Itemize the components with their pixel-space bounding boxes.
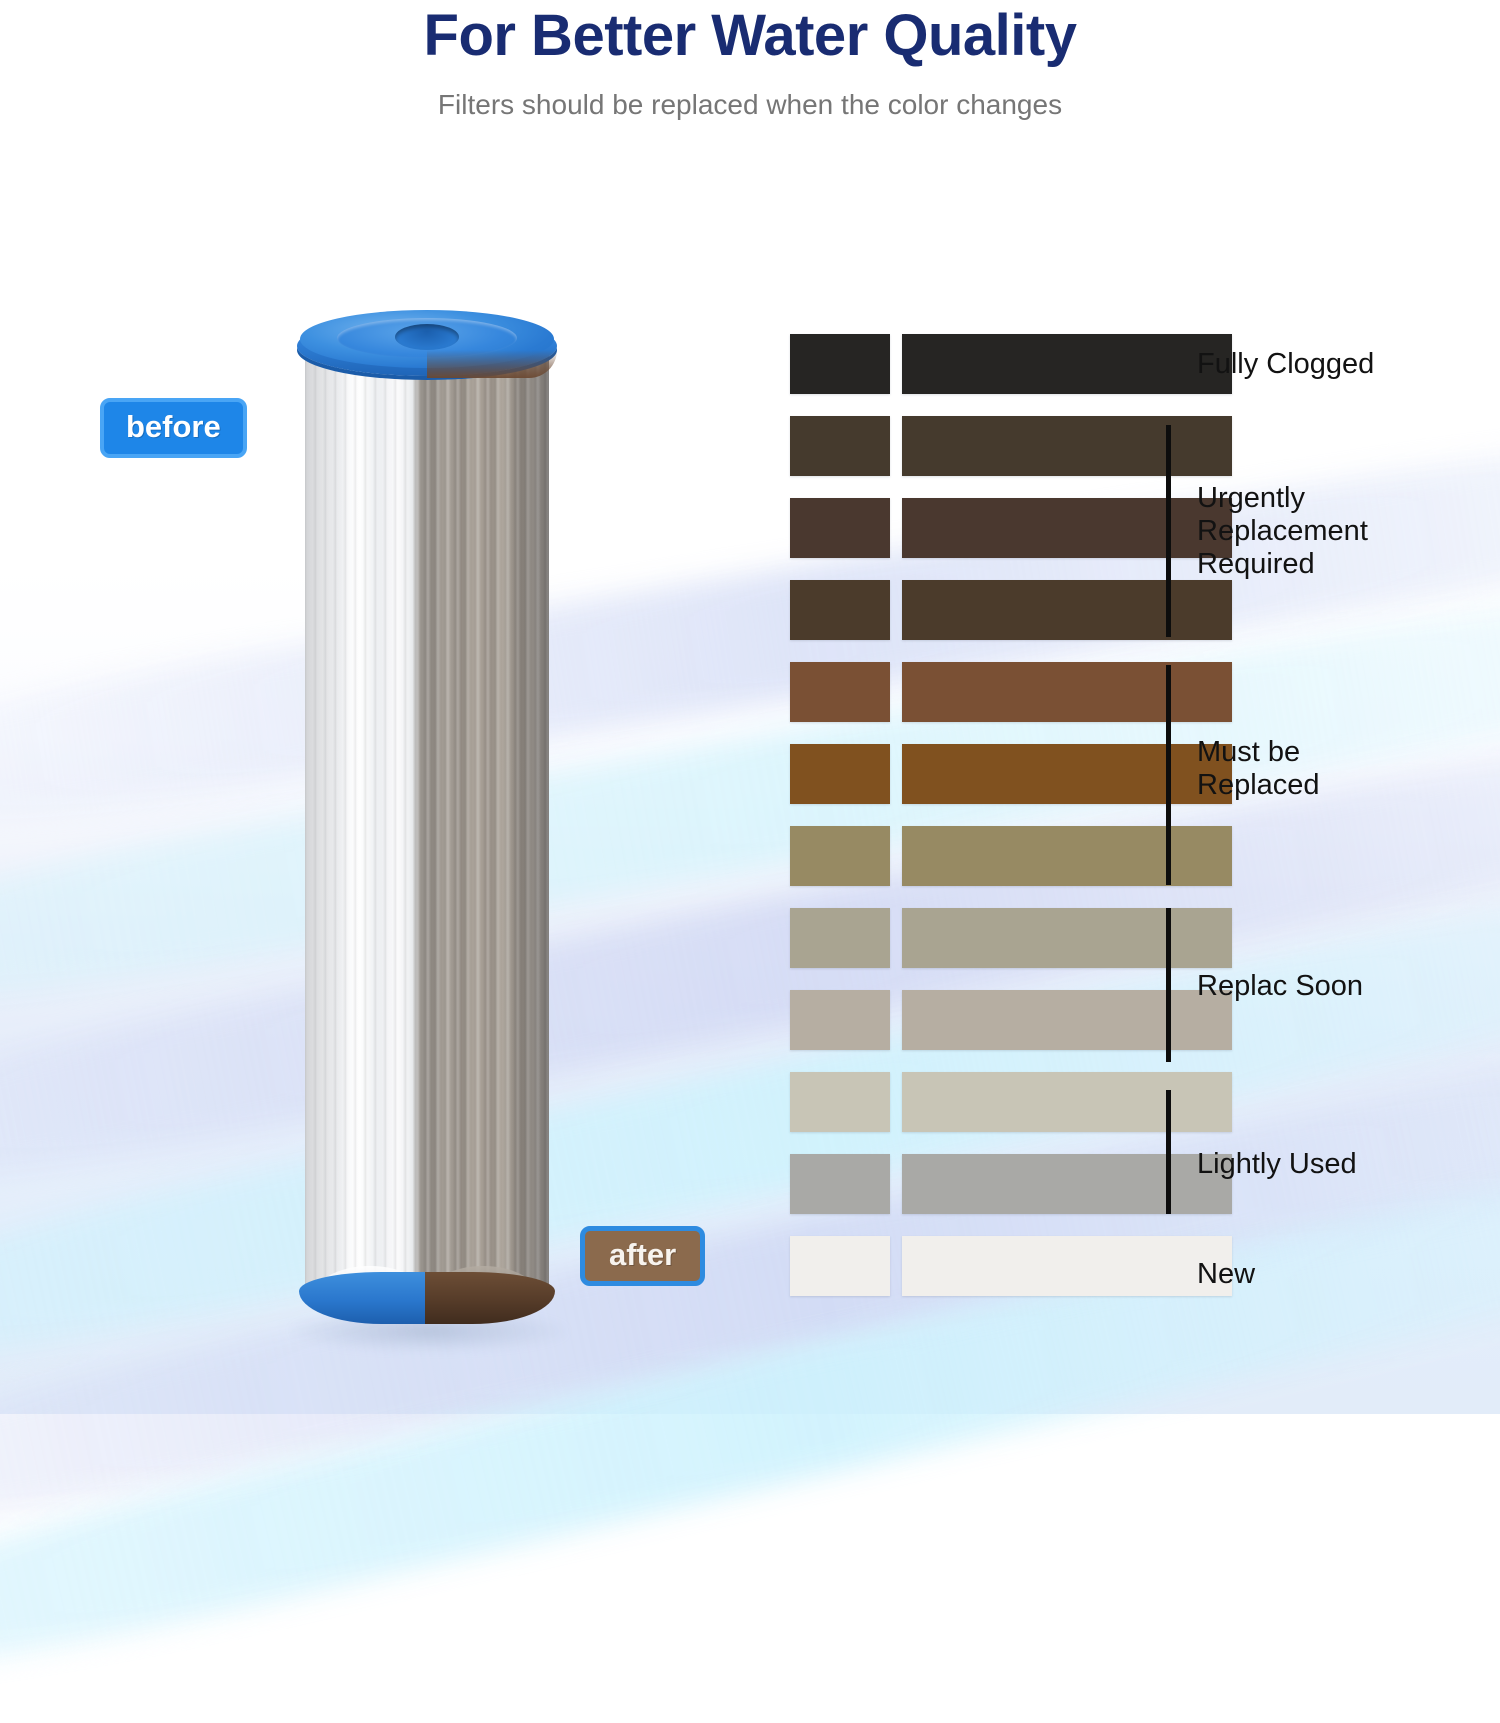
- swatch-large: [902, 908, 1232, 968]
- swatch-large: [902, 826, 1232, 886]
- swatch-large: [902, 990, 1232, 1050]
- category-bracket: [1166, 665, 1171, 885]
- swatch-small: [790, 1236, 890, 1296]
- swatch-small: [790, 580, 890, 640]
- swatch-small: [790, 908, 890, 968]
- category-label: Fully Clogged: [1197, 348, 1374, 381]
- swatch-small: [790, 662, 890, 722]
- category-label: Lightly Used: [1197, 1148, 1357, 1181]
- category-label: Urgently Replacement Required: [1197, 482, 1368, 580]
- badge-after: after: [580, 1226, 705, 1286]
- swatch-small: [790, 1154, 890, 1214]
- swatch-small: [790, 334, 890, 394]
- swatch-large: [902, 416, 1232, 476]
- swatch-large: [902, 580, 1232, 640]
- swatch-large: [902, 744, 1232, 804]
- swatch-small: [790, 744, 890, 804]
- swatch-large: [902, 1154, 1232, 1214]
- swatch-large: [902, 498, 1232, 558]
- swatch-large: [902, 1072, 1232, 1132]
- swatch-large: [902, 1236, 1232, 1296]
- swatch-small: [790, 1072, 890, 1132]
- color-comparison-chart: Fully CloggedUrgently Replacement Requir…: [0, 0, 1500, 1414]
- category-label: New: [1197, 1258, 1255, 1291]
- swatch-small: [790, 826, 890, 886]
- swatch-large: [902, 662, 1232, 722]
- swatch-small: [790, 498, 890, 558]
- swatch-small: [790, 416, 890, 476]
- category-bracket: [1166, 908, 1171, 1062]
- swatch-small: [790, 990, 890, 1050]
- badge-before: before: [100, 398, 247, 458]
- swatch-large: [902, 334, 1232, 394]
- category-bracket: [1166, 1090, 1171, 1214]
- category-label: Must be Replaced: [1197, 736, 1320, 802]
- category-label: Replac Soon: [1197, 970, 1363, 1003]
- category-bracket: [1166, 425, 1171, 637]
